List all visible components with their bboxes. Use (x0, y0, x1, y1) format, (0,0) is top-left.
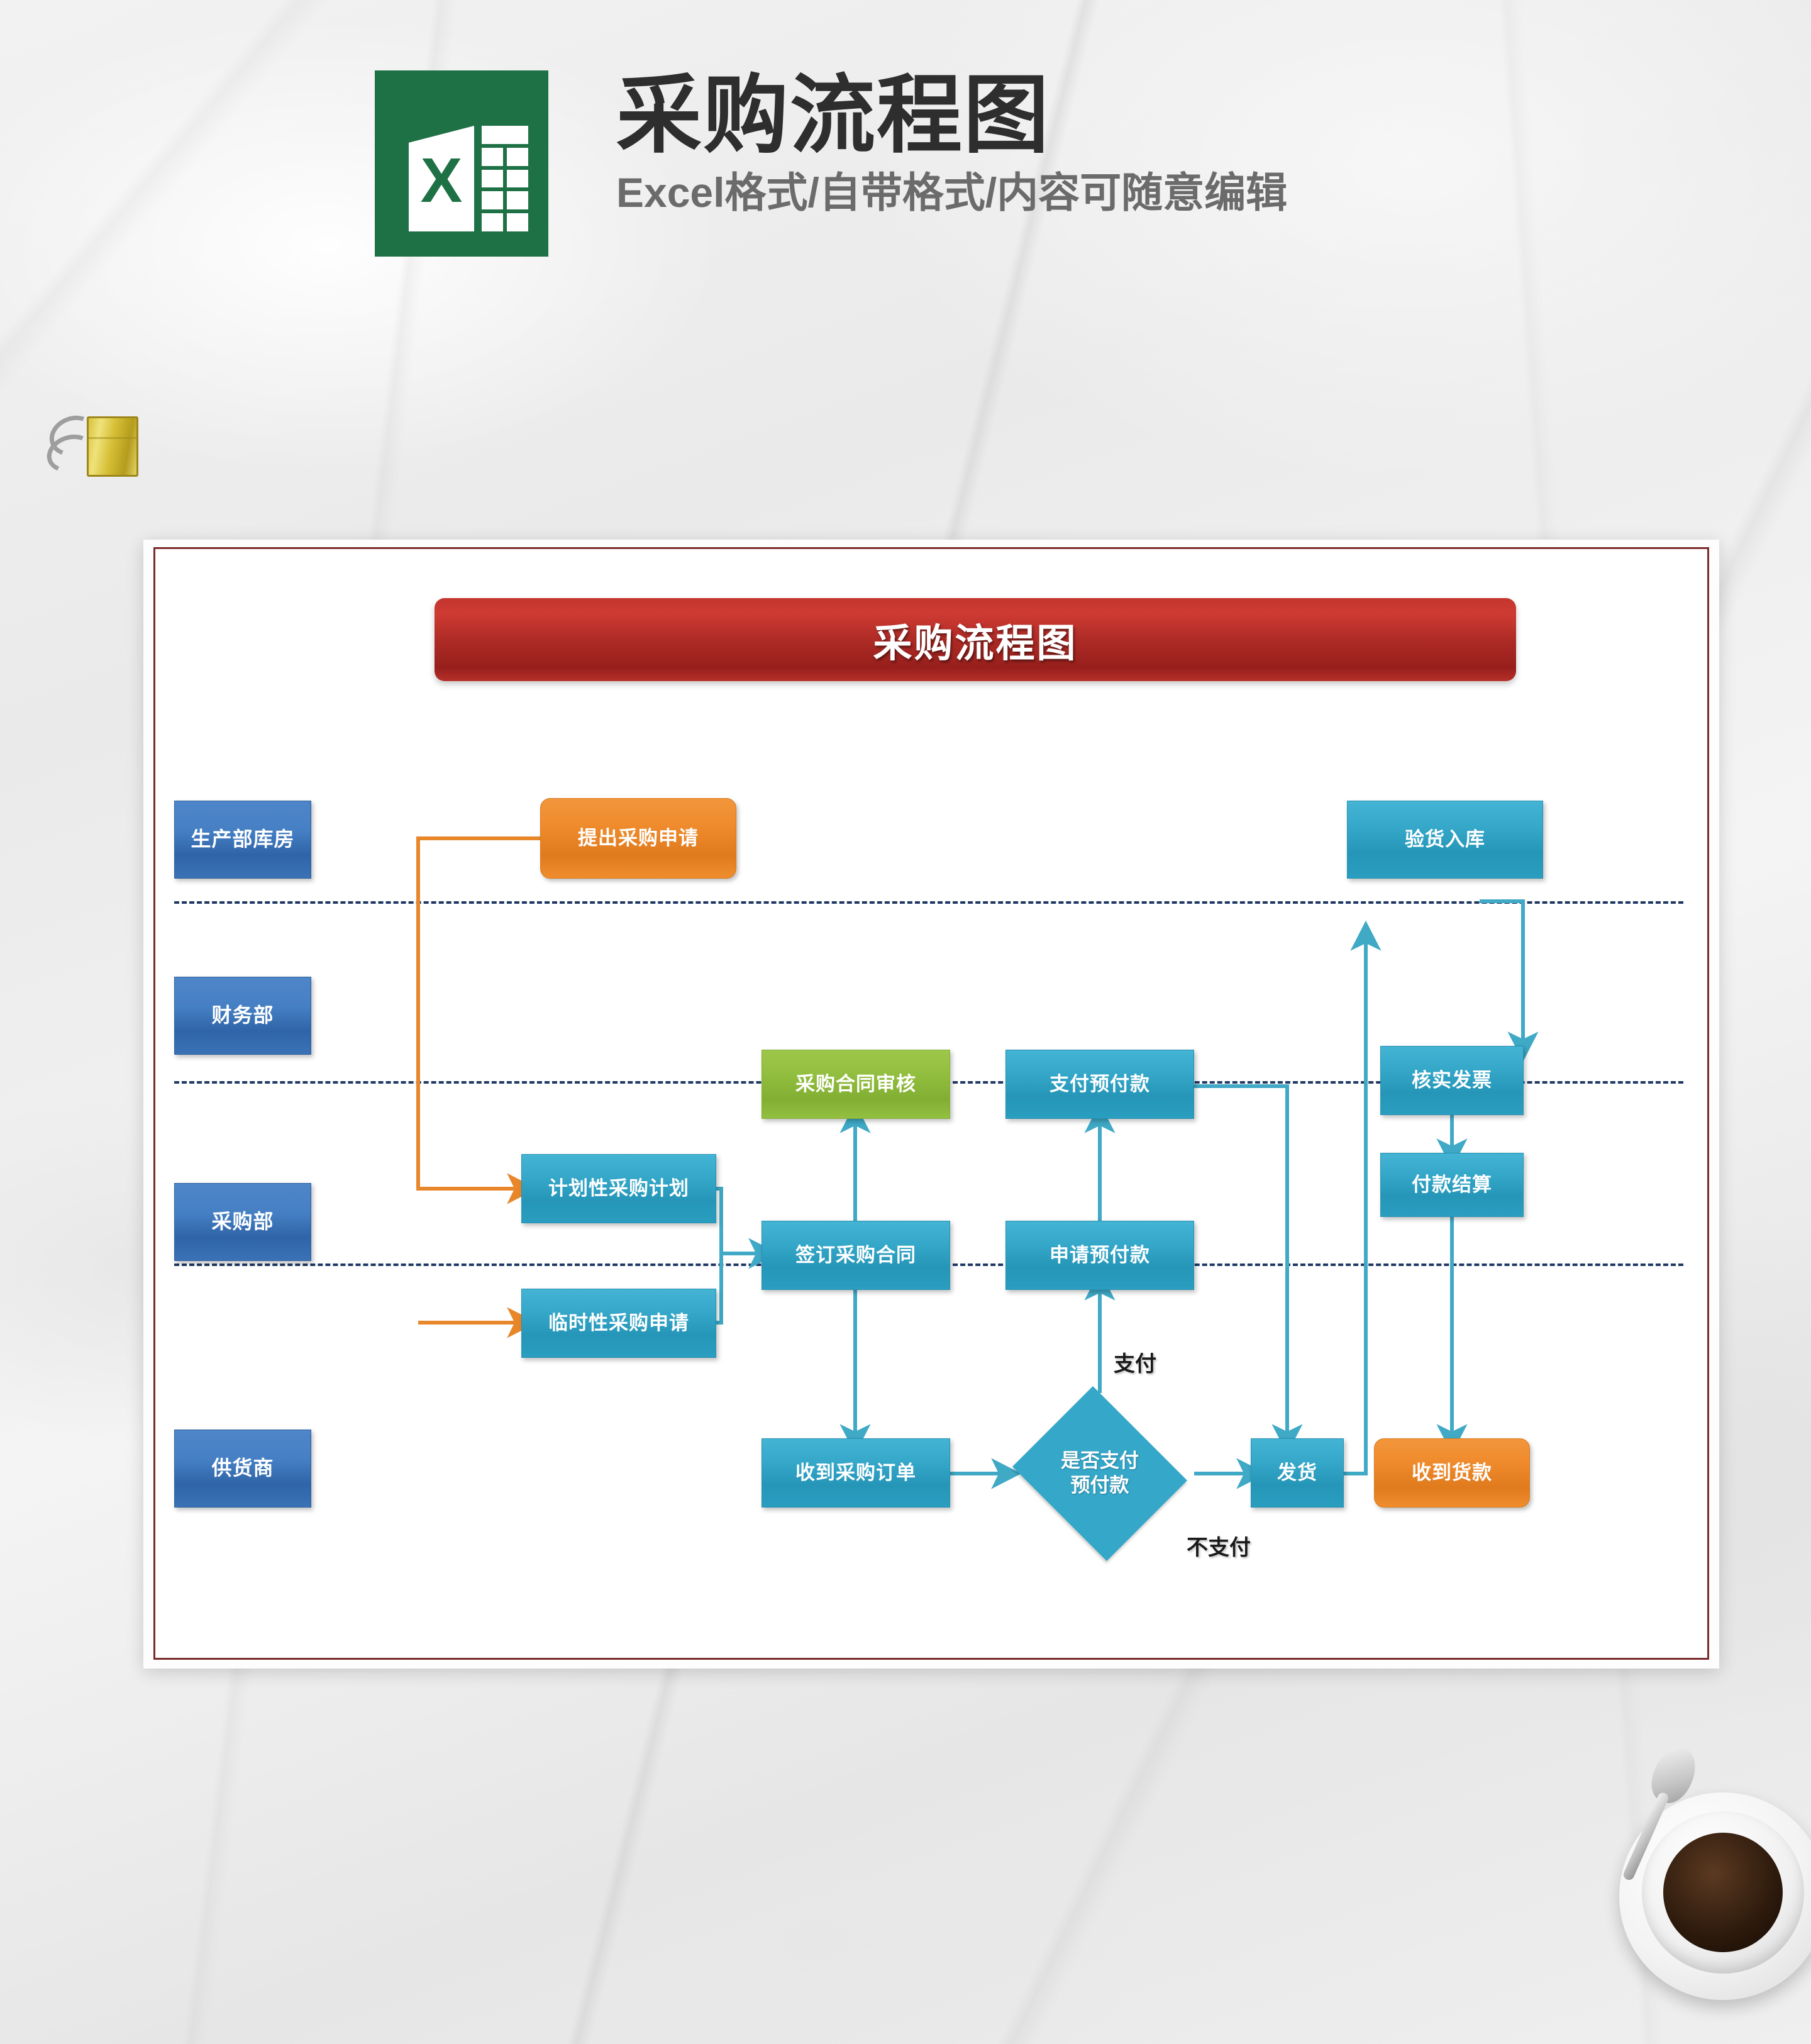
excel-logo-icon: X (375, 70, 548, 257)
node-receive-payment[interactable]: 收到货款 (1374, 1438, 1530, 1508)
page-title: 采购流程图 (616, 68, 1287, 162)
node-planned-purchase-plan[interactable]: 计划性采购计划 (521, 1154, 716, 1223)
title-block: 采购流程图 Excel格式/自带格式/内容可随意编辑 (616, 68, 1287, 218)
flowchart-frame: 采购流程图 (153, 547, 1709, 1660)
page-subtitle: Excel格式/自带格式/内容可随意编辑 (616, 167, 1287, 218)
excel-grid-shape (482, 126, 528, 231)
page-header: X 采购流程图 Excel格式/自带格式/内容可随意编辑 (0, 0, 1811, 314)
lane-divider-1 (174, 901, 1683, 904)
lane-label-purchasing: 采购部 (174, 1183, 311, 1261)
binder-clip-icon (38, 403, 176, 491)
node-verify-invoice[interactable]: 核实发票 (1380, 1046, 1524, 1115)
node-inspect-and-stock[interactable]: 验货入库 (1347, 801, 1543, 879)
lane-label-finance: 财务部 (174, 977, 311, 1055)
diamond-label: 是否支付 预付款 (1061, 1449, 1139, 1498)
excel-letter-x: X (410, 146, 473, 215)
node-decision-pay-advance[interactable]: 是否支付 预付款 (1005, 1393, 1194, 1554)
lane-label-production-warehouse: 生产部库房 (174, 801, 311, 879)
node-sign-purchase-contract[interactable]: 签订采购合同 (762, 1221, 950, 1290)
coffee-cup-decoration (1619, 1717, 1811, 2044)
node-apply-advance-payment[interactable]: 申请预付款 (1005, 1221, 1194, 1290)
edge-label-not-pay: 不支付 (1187, 1530, 1251, 1561)
flowchart-banner: 采购流程图 (435, 598, 1516, 681)
node-contract-review[interactable]: 采购合同审核 (762, 1050, 950, 1119)
node-temporary-purchase-request[interactable]: 临时性采购申请 (521, 1289, 716, 1358)
edge-label-pay: 支付 (1114, 1347, 1156, 1377)
lane-label-supplier: 供货商 (174, 1430, 311, 1508)
node-payment-settlement[interactable]: 付款结算 (1380, 1153, 1524, 1217)
flowchart-sheet: 采购流程图 (143, 540, 1719, 1669)
flowchart-banner-title: 采购流程图 (873, 611, 1077, 668)
node-submit-purchase-request[interactable]: 提出采购申请 (540, 798, 736, 879)
node-ship-goods[interactable]: 发货 (1251, 1438, 1344, 1508)
node-receive-purchase-order[interactable]: 收到采购订单 (762, 1438, 950, 1508)
node-pay-advance[interactable]: 支付预付款 (1005, 1050, 1194, 1119)
